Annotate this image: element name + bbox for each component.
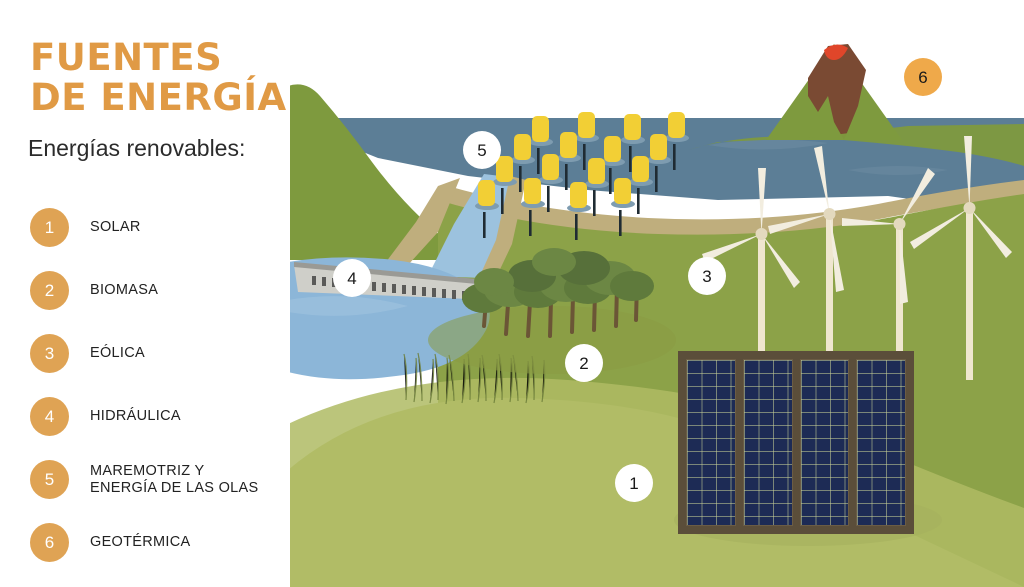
solar-panel-array — [678, 351, 914, 534]
legend-item-solar[interactable]: 1 SOLAR — [30, 196, 292, 259]
solar-panel-column — [686, 359, 736, 526]
legend-item-geotermica[interactable]: 6 GEOTÉRMICA — [30, 511, 292, 574]
landscape-illustration: 1 2 3 4 5 6 — [288, 0, 1024, 587]
marker-1-solar[interactable]: 1 — [615, 464, 653, 502]
solar-panel-grid — [686, 359, 906, 526]
legend-bullet-4: 4 — [30, 397, 69, 436]
title-line-2: DE ENERGÍA — [30, 78, 290, 118]
left-panel: FUENTES DE ENERGÍA Energías renovables: … — [0, 0, 290, 587]
marker-5-label: 5 — [477, 142, 486, 159]
marker-4-label: 4 — [347, 270, 356, 287]
legend-item-biomasa[interactable]: 2 BIOMASA — [30, 259, 292, 322]
marker-5-maremotriz[interactable]: 5 — [463, 131, 501, 169]
marker-4-hidraulica[interactable]: 4 — [333, 259, 371, 297]
page-subtitle: Energías renovables: — [28, 134, 296, 162]
marker-1-label: 1 — [629, 475, 638, 492]
legend-bullet-3: 3 — [30, 334, 69, 373]
legend-bullet-5: 5 — [30, 460, 69, 499]
legend-label-5: MAREMOTRIZ Y ENERGÍA DE LAS OLAS — [90, 463, 259, 497]
legend-item-eolica[interactable]: 3 EÓLICA — [30, 322, 292, 385]
legend-label-2: BIOMASA — [90, 282, 158, 299]
legend-item-hidraulica[interactable]: 4 HIDRÁULICA — [30, 385, 292, 448]
legend-bullet-6: 6 — [30, 523, 69, 562]
marker-2-biomasa[interactable]: 2 — [565, 344, 603, 382]
marker-2-label: 2 — [579, 355, 588, 372]
solar-panel-column — [743, 359, 793, 526]
legend-label-1: SOLAR — [90, 219, 141, 236]
marker-6-geotermica[interactable]: 6 — [904, 58, 942, 96]
legend-label-6: GEOTÉRMICA — [90, 534, 190, 551]
solar-panel-column — [800, 359, 850, 526]
legend-list: 1 SOLAR 2 BIOMASA 3 EÓLICA 4 HIDRÁULICA … — [30, 196, 292, 574]
legend-bullet-1: 1 — [30, 208, 69, 247]
legend-bullet-2: 2 — [30, 271, 69, 310]
marker-3-label: 3 — [702, 268, 711, 285]
legend-label-3: EÓLICA — [90, 345, 145, 362]
solar-panel-column — [856, 359, 906, 526]
legend-label-4: HIDRÁULICA — [90, 408, 181, 425]
marker-3-eolica[interactable]: 3 — [688, 257, 726, 295]
page-title: FUENTES DE ENERGÍA — [30, 38, 290, 118]
legend-item-maremotriz[interactable]: 5 MAREMOTRIZ Y ENERGÍA DE LAS OLAS — [30, 448, 292, 511]
title-line-1: FUENTES — [30, 38, 290, 78]
marker-6-label: 6 — [918, 69, 927, 86]
infographic-page: FUENTES DE ENERGÍA Energías renovables: … — [0, 0, 1024, 587]
